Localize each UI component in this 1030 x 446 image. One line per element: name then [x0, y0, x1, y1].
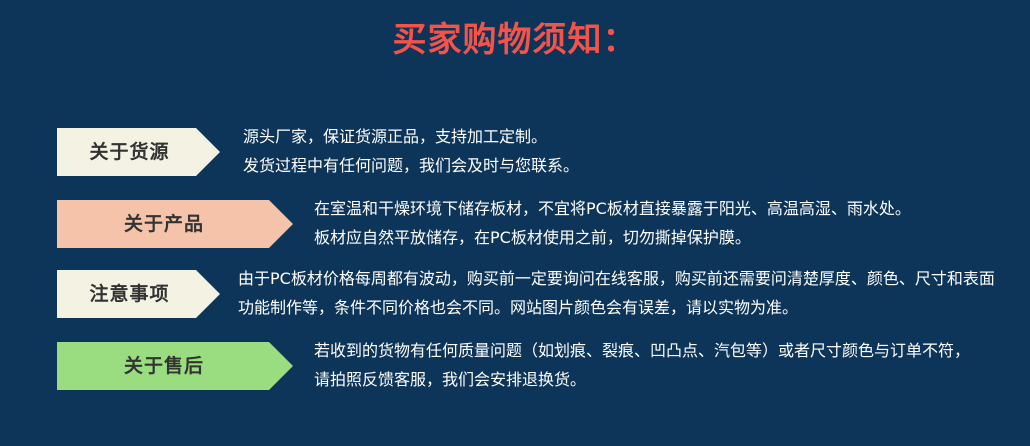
page-title: 买家购物须知：	[0, 18, 1030, 62]
body-line: 发货过程中有任何问题，我们会及时与您联系。	[243, 151, 579, 180]
buyer-notice-banner: 买家购物须知： 关于货源 源头厂家，保证货源正品，支持加工定制。 发货过程中有任…	[0, 0, 1030, 446]
section-body-attention: 由于PC板材价格每周都有波动，购买前一定要询问在线客服，购买前还需要问清楚厚度、…	[238, 264, 995, 322]
body-line: 由于PC板材价格每周都有波动，购买前一定要询问在线客服，购买前还需要问清楚厚度、…	[238, 264, 995, 293]
body-line: 若收到的货物有任何质量问题（如划痕、裂痕、凹凸点、汽包等）或者尺寸颜色与订单不符…	[314, 336, 970, 365]
body-line: 功能制作等，条件不同价格也会不同。网站图片颜色会有误差，请以实物为准。	[238, 293, 995, 322]
section-tag-product: 关于产品	[57, 200, 293, 248]
section-tag-aftersales: 关于售后	[57, 342, 293, 390]
body-line: 板材应自然平放储存，在PC板材使用之前，切勿撕掉保护膜。	[314, 223, 911, 252]
notice-row: 关于货源 源头厂家，保证货源正品，支持加工定制。 发货过程中有任何问题，我们会及…	[0, 114, 1030, 186]
section-body-product: 在室温和干燥环境下储存板材，不宜将PC板材直接暴露于阳光、高温高湿、雨水处。 板…	[314, 194, 911, 252]
body-line: 在室温和干燥环境下储存板材，不宜将PC板材直接暴露于阳光、高温高湿、雨水处。	[314, 194, 911, 223]
section-tag-source: 关于货源	[57, 128, 220, 176]
section-tag-attention: 注意事项	[57, 270, 220, 318]
section-body-source: 源头厂家，保证货源正品，支持加工定制。 发货过程中有任何问题，我们会及时与您联系…	[243, 122, 579, 180]
section-body-aftersales: 若收到的货物有任何质量问题（如划痕、裂痕、凹凸点、汽包等）或者尺寸颜色与订单不符…	[314, 336, 970, 394]
body-line: 请拍照反馈客服，我们会安排退换货。	[314, 365, 970, 394]
body-line: 源头厂家，保证货源正品，支持加工定制。	[243, 122, 579, 151]
notice-row: 关于售后 若收到的货物有任何质量问题（如划痕、裂痕、凹凸点、汽包等）或者尺寸颜色…	[0, 328, 1030, 400]
notice-row: 注意事项 由于PC板材价格每周都有波动，购买前一定要询问在线客服，购买前还需要问…	[0, 256, 1030, 328]
notice-row: 关于产品 在室温和干燥环境下储存板材，不宜将PC板材直接暴露于阳光、高温高湿、雨…	[0, 186, 1030, 258]
